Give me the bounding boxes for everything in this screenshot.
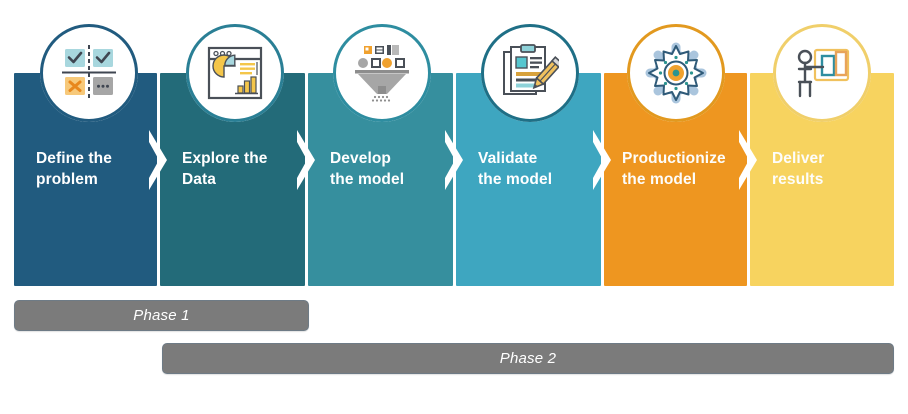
badge-define-the-problem[interactable]	[40, 24, 138, 122]
stage-label: Develop the model	[330, 149, 443, 190]
stage-label: Productionize the model	[622, 149, 737, 190]
phase-bar-phase-2[interactable]: Phase 2	[162, 343, 894, 374]
stage-label: Define the problem	[36, 149, 147, 190]
badge-develop-the-model[interactable]	[333, 24, 431, 122]
phase-bar-phase-1[interactable]: Phase 1	[14, 300, 309, 331]
data-funnel-icon	[351, 42, 413, 104]
badge-explore-the-data[interactable]	[186, 24, 284, 122]
clipboard-pencil-icon	[501, 44, 559, 102]
presenter-chart-icon	[793, 44, 851, 102]
badge-validate-the-model[interactable]	[481, 24, 579, 122]
badge-productionize-the-model[interactable]	[627, 24, 725, 122]
phase-label: Phase 2	[500, 350, 556, 367]
badge-deliver-results[interactable]	[773, 24, 871, 122]
gear-cog-icon	[644, 41, 708, 105]
diagram-canvas: Define the problem Explore the Data	[0, 0, 908, 414]
stage-label: Validate the model	[478, 149, 591, 190]
analytics-dashboard-icon	[207, 45, 263, 101]
phase-label: Phase 1	[133, 307, 189, 324]
checklist-quadrant-icon	[60, 44, 118, 102]
stage-label: Deliver results	[772, 149, 884, 190]
stage-label: Explore the Data	[182, 149, 295, 190]
